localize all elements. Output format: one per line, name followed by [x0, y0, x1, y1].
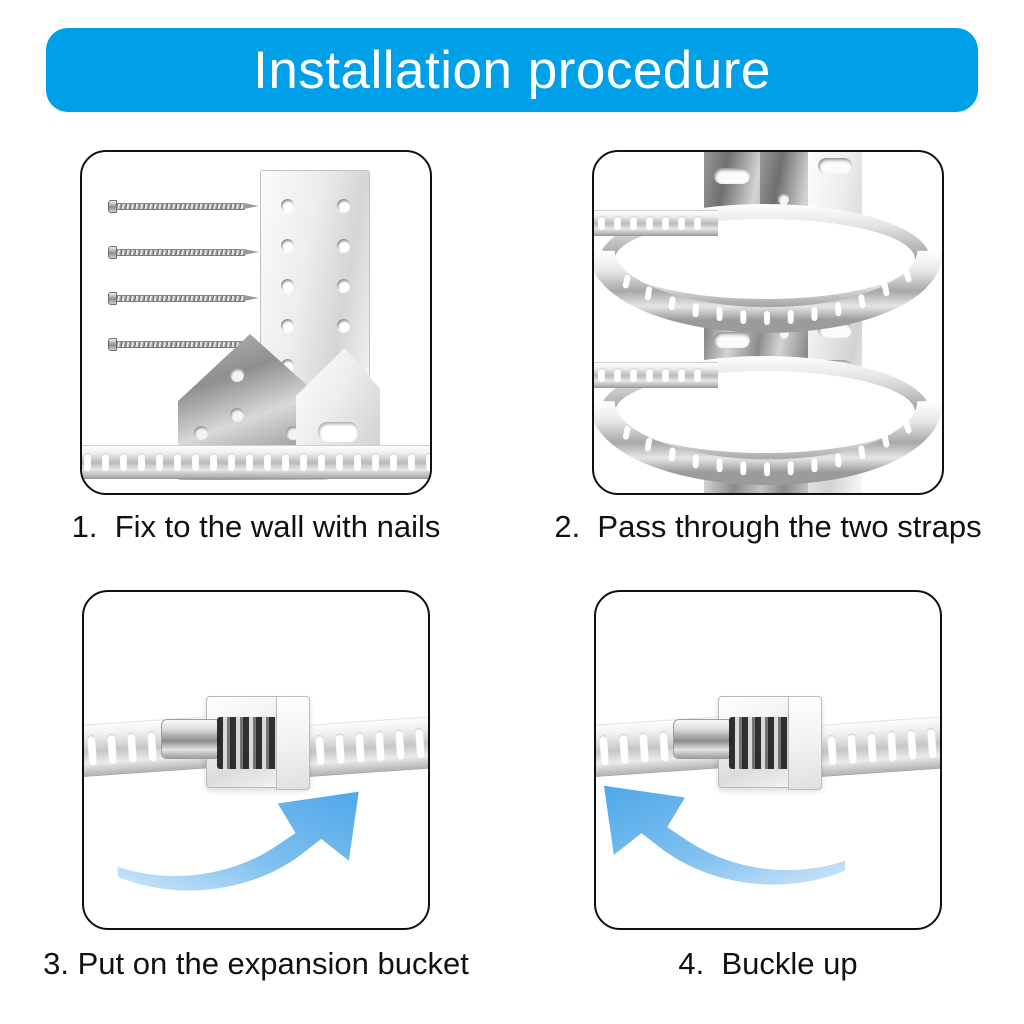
strap-tail-lower: [592, 362, 718, 388]
clamp-buckle-housing: [206, 696, 310, 788]
screw-thread: [117, 249, 245, 256]
step-illustration-4: [594, 590, 942, 930]
steps-grid: 1. Fix to the wall with nails: [0, 150, 1024, 1010]
plate-hole: [281, 279, 294, 292]
screw-tip: [244, 295, 259, 301]
screw-head-icon: [108, 292, 117, 305]
arrow-shape: [604, 786, 845, 885]
arrow-shape: [118, 792, 359, 891]
worm-screw: [161, 719, 221, 759]
step-caption-4: 4. Buckle up: [678, 946, 857, 982]
gusset-hole: [194, 426, 208, 440]
step-caption-3: 3. Put on the expansion bucket: [43, 946, 469, 982]
screw-thread: [117, 295, 245, 302]
steps-row-top: 1. Fix to the wall with nails: [0, 150, 1024, 590]
screw-1: [108, 202, 260, 211]
plate-hole: [337, 199, 350, 212]
title-banner: Installation procedure: [46, 28, 978, 112]
bracket-slot: [318, 422, 358, 442]
screw-thread: [117, 341, 245, 348]
clamp-strap-right: [306, 715, 430, 777]
screw-thread: [117, 203, 245, 210]
screw-head-icon: [108, 200, 117, 213]
screw-head-icon: [108, 338, 117, 351]
screw-3: [108, 294, 260, 303]
strap-band: [80, 445, 432, 479]
step-cell-4: 4. Buckle up: [512, 590, 1024, 1010]
page-title: Installation procedure: [253, 44, 771, 97]
gusset-hole: [230, 408, 244, 422]
step-cell-2: 2. Pass through the two straps: [512, 150, 1024, 590]
screw-tip: [244, 203, 259, 209]
screw-2: [108, 248, 260, 257]
step-caption-1: 1. Fix to the wall with nails: [72, 509, 441, 545]
step-caption-2: 2. Pass through the two straps: [554, 509, 981, 545]
buckle-end-face: [788, 696, 822, 790]
plate-hole: [281, 239, 294, 252]
step-illustration-1: [80, 150, 432, 495]
plate-hole: [337, 279, 350, 292]
plate-hole: [281, 319, 294, 332]
step-illustration-2: [592, 150, 944, 495]
plate-hole: [281, 199, 294, 212]
step-cell-3: 3. Put on the expansion bucket: [0, 590, 512, 1010]
gusset-hole: [230, 368, 244, 382]
plate-hole: [337, 239, 350, 252]
screw-tip: [244, 249, 259, 255]
step-illustration-3: [82, 590, 430, 930]
step-cell-1: 1. Fix to the wall with nails: [0, 150, 512, 590]
worm-screw: [673, 719, 733, 759]
clamp-buckle-housing: [718, 696, 822, 788]
clamp-strap-right: [818, 715, 942, 777]
plate-hole: [337, 319, 350, 332]
screw-head-icon: [108, 246, 117, 259]
strap-tail-upper: [592, 210, 718, 236]
steps-row-bottom: 3. Put on the expansion bucket: [0, 590, 1024, 1010]
buckle-end-face: [276, 696, 310, 790]
